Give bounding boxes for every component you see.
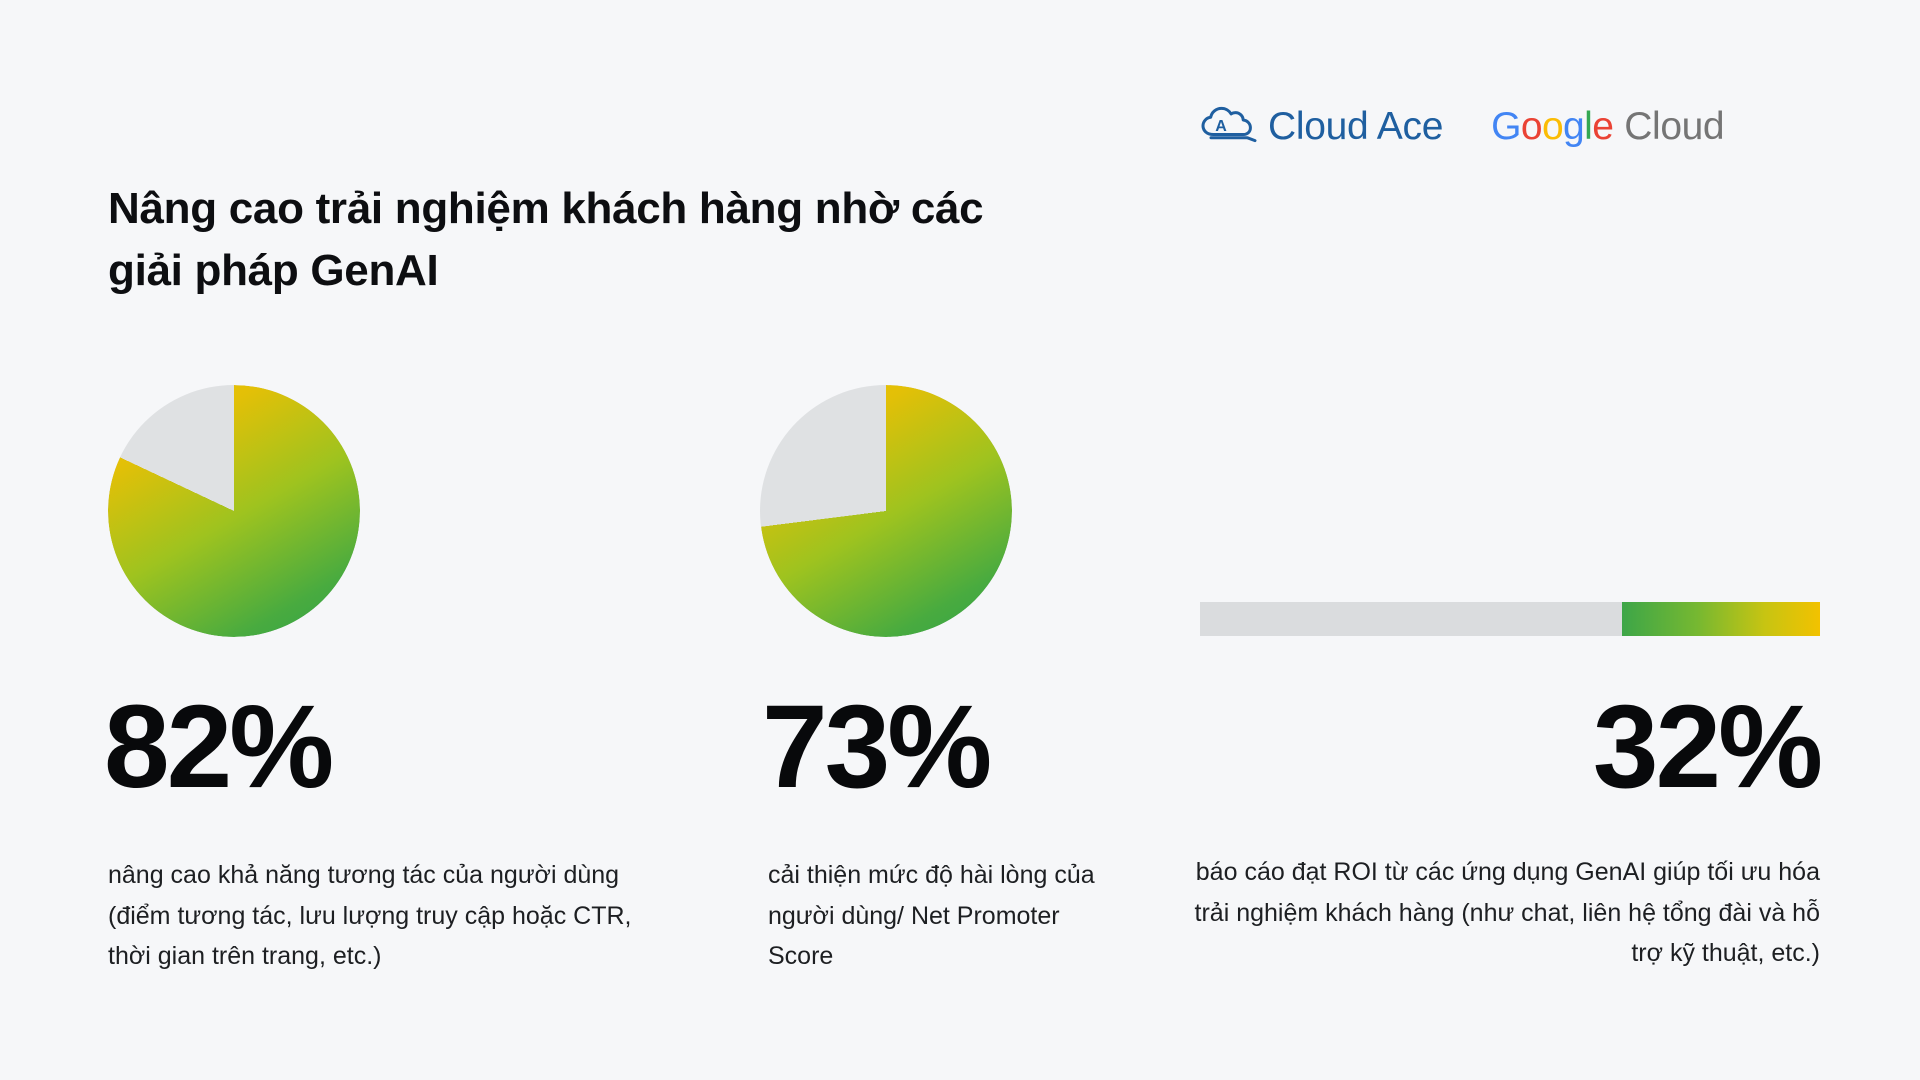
cloud-with-a-icon: A	[1200, 104, 1258, 149]
progress-bar-roi	[1200, 602, 1820, 636]
stat-value-engagement: 82%	[104, 688, 331, 806]
stat-caption-engagement: nâng cao khả năng tương tác của người dù…	[108, 855, 668, 977]
google-letter-g1: G	[1491, 105, 1521, 148]
stat-value-roi: 32%	[1593, 688, 1820, 806]
stat-caption-satisfaction: cải thiện mức độ hài lòng của người dùng…	[768, 855, 1098, 977]
google-cloud-word: Cloud	[1624, 105, 1724, 149]
stat-pie-engagement	[108, 385, 360, 637]
google-letter-l: l	[1584, 105, 1592, 148]
pie-slice-filled	[760, 385, 1012, 637]
page-title: Nâng cao trải nghiệm khách hàng nhờ các …	[108, 178, 1068, 303]
stat-caption-roi: báo cáo đạt ROI từ các ứng dụng GenAI gi…	[1180, 852, 1820, 974]
logo-row: A Cloud Ace Google Cloud	[1200, 104, 1724, 149]
pie-slice-filled	[108, 385, 360, 637]
svg-text:A: A	[1215, 118, 1227, 135]
pie-chart-engagement	[108, 385, 360, 637]
google-wordmark: Google	[1491, 105, 1613, 149]
google-cloud-logo: Google Cloud	[1491, 105, 1724, 149]
google-letter-e: e	[1592, 105, 1613, 148]
progress-bar-fill	[1622, 602, 1820, 636]
google-letter-g2: g	[1563, 105, 1584, 148]
stat-pie-satisfaction	[760, 385, 1012, 637]
cloud-ace-logo: A Cloud Ace	[1200, 104, 1443, 149]
pie-chart-satisfaction	[760, 385, 1012, 637]
google-letter-o1: o	[1521, 105, 1542, 148]
cloud-ace-wordmark: Cloud Ace	[1268, 105, 1443, 149]
google-letter-o2: o	[1542, 105, 1563, 148]
stat-value-satisfaction: 73%	[762, 688, 989, 806]
